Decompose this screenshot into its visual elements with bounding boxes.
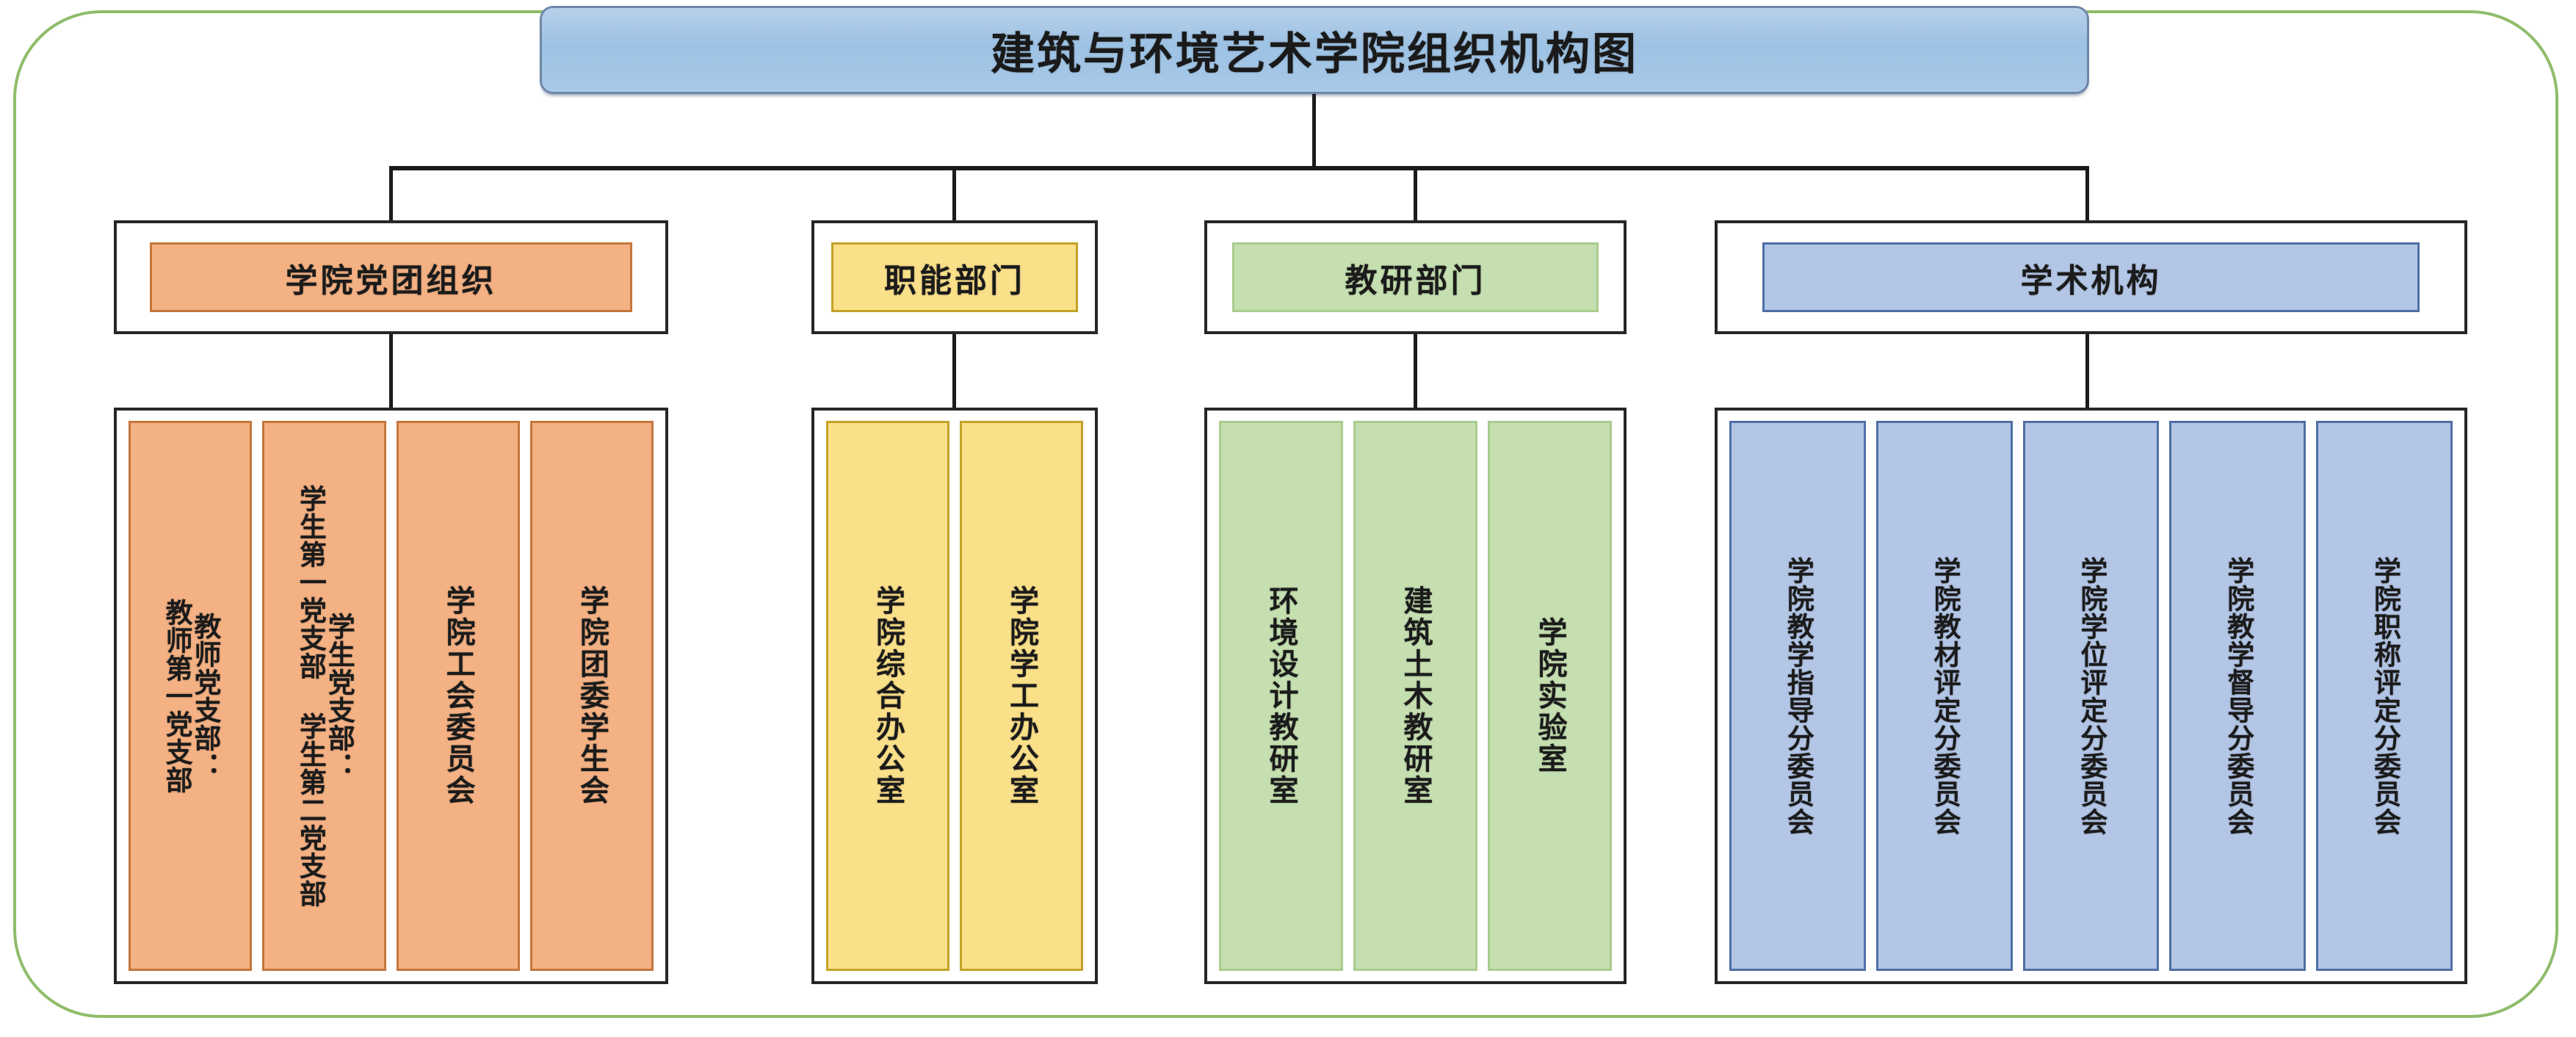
org-node-label: 学院学工办公室 [1006, 585, 1037, 806]
org-node-youth-league-student-union[interactable]: 学院团委学生会 [530, 421, 654, 971]
org-node-label: 学院职称评定分委员会 [2370, 557, 2399, 836]
org-node-label: 学院团委学生会 [576, 585, 607, 806]
org-node-label: 环境设计教研室 [1266, 585, 1297, 806]
group-body-teaching: 环境设计教研室 建筑土木教研室 学院实验室 [1204, 408, 1627, 984]
org-node-label: 学生党支部： 学生第一党支部 学生第二党支部 [296, 485, 353, 908]
group-header-party-label: 学院党团组织 [150, 242, 632, 312]
org-node-label: 建筑土木教研室 [1400, 585, 1431, 806]
connector-drop-party [389, 166, 393, 222]
connector-party-header-to-body [389, 334, 393, 409]
connector-drop-academic [2085, 166, 2089, 222]
org-node-student-affairs-office[interactable]: 学院学工办公室 [960, 421, 1083, 971]
group-body-party: 教师党支部： 教师第一党支部 学生党支部： 学生第一党支部 学生第二党支部 学院… [114, 408, 668, 984]
org-node-label: 学院学位评定分委员会 [2077, 557, 2105, 836]
group-header-teaching[interactable]: 教研部门 [1204, 220, 1627, 334]
org-node-label: 学院工会委员会 [443, 585, 474, 806]
org-node-student-party-branch[interactable]: 学生党支部： 学生第一党支部 学生第二党支部 [262, 421, 386, 971]
connector-functional-header-to-body [952, 334, 956, 409]
group-body-academic: 学院教学指导分委员会 学院教材评定分委员会 学院学位评定分委员会 学院教学督导分… [1715, 408, 2467, 984]
org-node-teacher-party-branch[interactable]: 教师党支部： 教师第一党支部 [129, 421, 252, 971]
group-header-party[interactable]: 学院党团组织 [114, 220, 668, 334]
org-node-union-committee[interactable]: 学院工会委员会 [397, 421, 520, 971]
org-node-label: 学院综合办公室 [872, 585, 903, 806]
org-node-label: 学院教材评定分委员会 [1930, 557, 1958, 836]
org-node-general-office[interactable]: 学院综合办公室 [826, 421, 949, 971]
group-header-academic-label: 学术机构 [1762, 242, 2420, 312]
connector-root-stem [1312, 94, 1316, 167]
connector-drop-functional [952, 166, 956, 222]
org-node-textbook-evaluation-subcommittee[interactable]: 学院教材评定分委员会 [1876, 421, 2013, 971]
org-node-degree-evaluation-subcommittee[interactable]: 学院学位评定分委员会 [2023, 421, 2160, 971]
org-node-label: 教师党支部： 教师第一党支部 [162, 599, 219, 794]
connector-main-bus [389, 166, 2089, 170]
connector-academic-header-to-body [2085, 334, 2089, 409]
org-node-environmental-design-section[interactable]: 环境设计教研室 [1219, 421, 1343, 971]
group-header-functional-label: 职能部门 [831, 242, 1078, 312]
group-header-functional[interactable]: 职能部门 [811, 220, 1098, 334]
org-node-label: 学院教学督导分委员会 [2224, 557, 2252, 836]
group-header-academic[interactable]: 学术机构 [1715, 220, 2467, 334]
org-node-title-evaluation-subcommittee[interactable]: 学院职称评定分委员会 [2316, 421, 2453, 971]
org-node-teaching-supervision-subcommittee[interactable]: 学院教学督导分委员会 [2169, 421, 2306, 971]
org-node-college-laboratory[interactable]: 学院实验室 [1488, 421, 1612, 971]
org-node-architecture-civil-section[interactable]: 建筑土木教研室 [1353, 421, 1477, 971]
group-body-functional: 学院综合办公室 学院学工办公室 [811, 408, 1098, 984]
org-node-label: 学院实验室 [1535, 617, 1566, 775]
connector-teaching-header-to-body [1414, 334, 1417, 409]
root-node-label: 建筑与环境艺术学院组织机构图 [991, 18, 1638, 82]
group-header-teaching-label: 教研部门 [1232, 242, 1599, 312]
connector-drop-teaching [1414, 166, 1417, 222]
org-node-label: 学院教学指导分委员会 [1783, 557, 1812, 836]
org-node-teaching-guidance-subcommittee[interactable]: 学院教学指导分委员会 [1729, 421, 1866, 971]
org-chart-root-node[interactable]: 建筑与环境艺术学院组织机构图 [540, 6, 2089, 94]
